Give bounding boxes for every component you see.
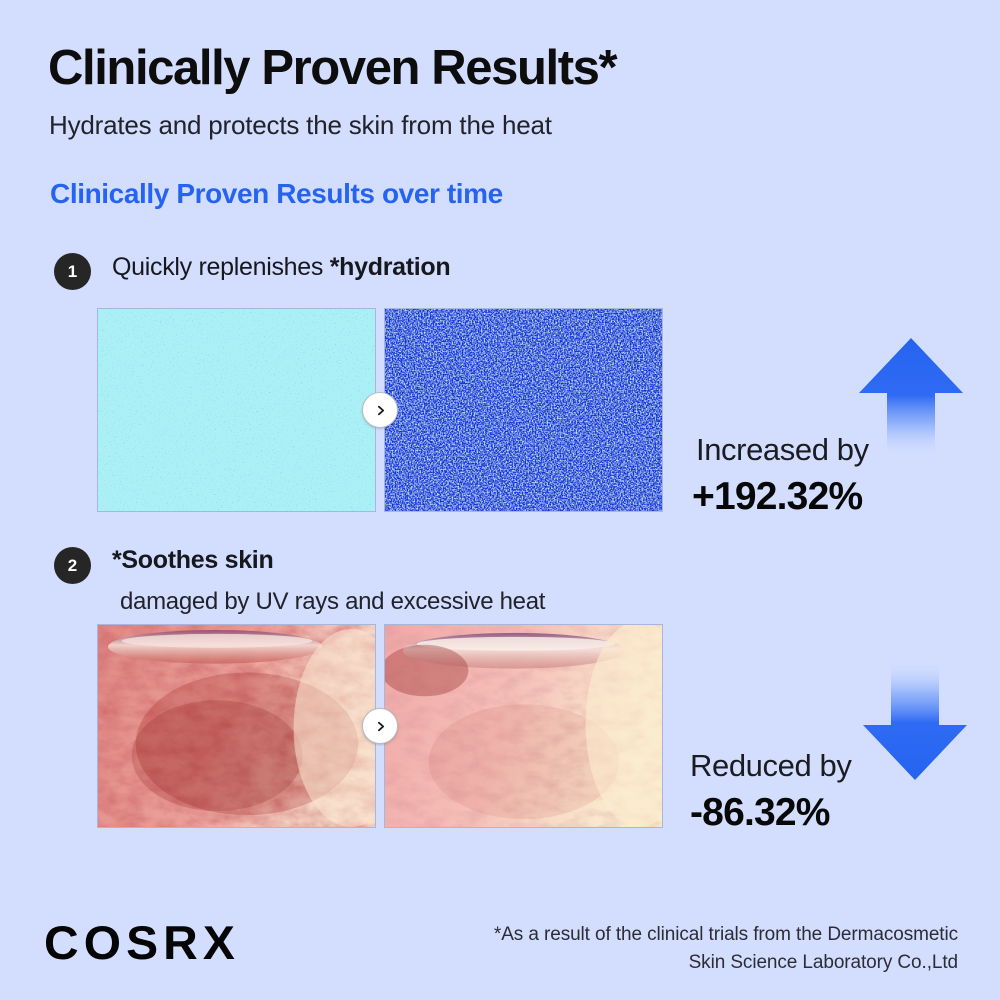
section-heading: Clinically Proven Results over time bbox=[50, 178, 503, 210]
stat-label-reduce: Reduced by bbox=[690, 748, 851, 784]
soothing-before-image bbox=[97, 624, 376, 828]
hydration-comparison-row bbox=[97, 308, 663, 512]
soothing-after-image bbox=[384, 624, 663, 828]
stat-value-reduce: -86.32% bbox=[690, 791, 830, 835]
arrow-up-icon bbox=[856, 336, 966, 458]
step-badge-2: 2 bbox=[54, 547, 91, 584]
page-title: Clinically Proven Results* bbox=[48, 40, 616, 96]
disclaimer-line-2: Skin Science Laboratory Co.,Ltd bbox=[494, 949, 958, 977]
step-2-heading-bold: *Soothes skin bbox=[112, 546, 273, 574]
step-2-subheading: damaged by UV rays and excessive heat bbox=[120, 588, 545, 616]
stat-value-increase: +192.32% bbox=[692, 475, 862, 519]
stat-label-increase: Increased by bbox=[696, 432, 869, 468]
disclaimer: *As a result of the clinical trials from… bbox=[494, 921, 958, 976]
infographic-page: Clinically Proven Results* Hydrates and … bbox=[0, 0, 1000, 1000]
step-badge-1: 1 bbox=[54, 253, 91, 290]
step-1-heading: Quickly replenishes *hydration bbox=[112, 253, 450, 282]
soothing-comparison-row bbox=[97, 624, 663, 828]
hydration-after-image bbox=[384, 308, 663, 512]
hydration-before-image bbox=[97, 308, 376, 512]
arrow-down-icon bbox=[860, 660, 970, 782]
chevron-right-icon[interactable] bbox=[362, 708, 398, 744]
chevron-right-icon[interactable] bbox=[362, 392, 398, 428]
cosrx-logo: COSRX bbox=[44, 915, 240, 970]
disclaimer-line-1: *As a result of the clinical trials from… bbox=[494, 921, 958, 949]
step-2-heading: *Soothes skin bbox=[112, 546, 273, 575]
page-subtitle: Hydrates and protects the skin from the … bbox=[49, 110, 552, 141]
step-1-heading-light: Quickly replenishes bbox=[112, 253, 330, 281]
step-1-heading-bold: *hydration bbox=[330, 253, 451, 281]
